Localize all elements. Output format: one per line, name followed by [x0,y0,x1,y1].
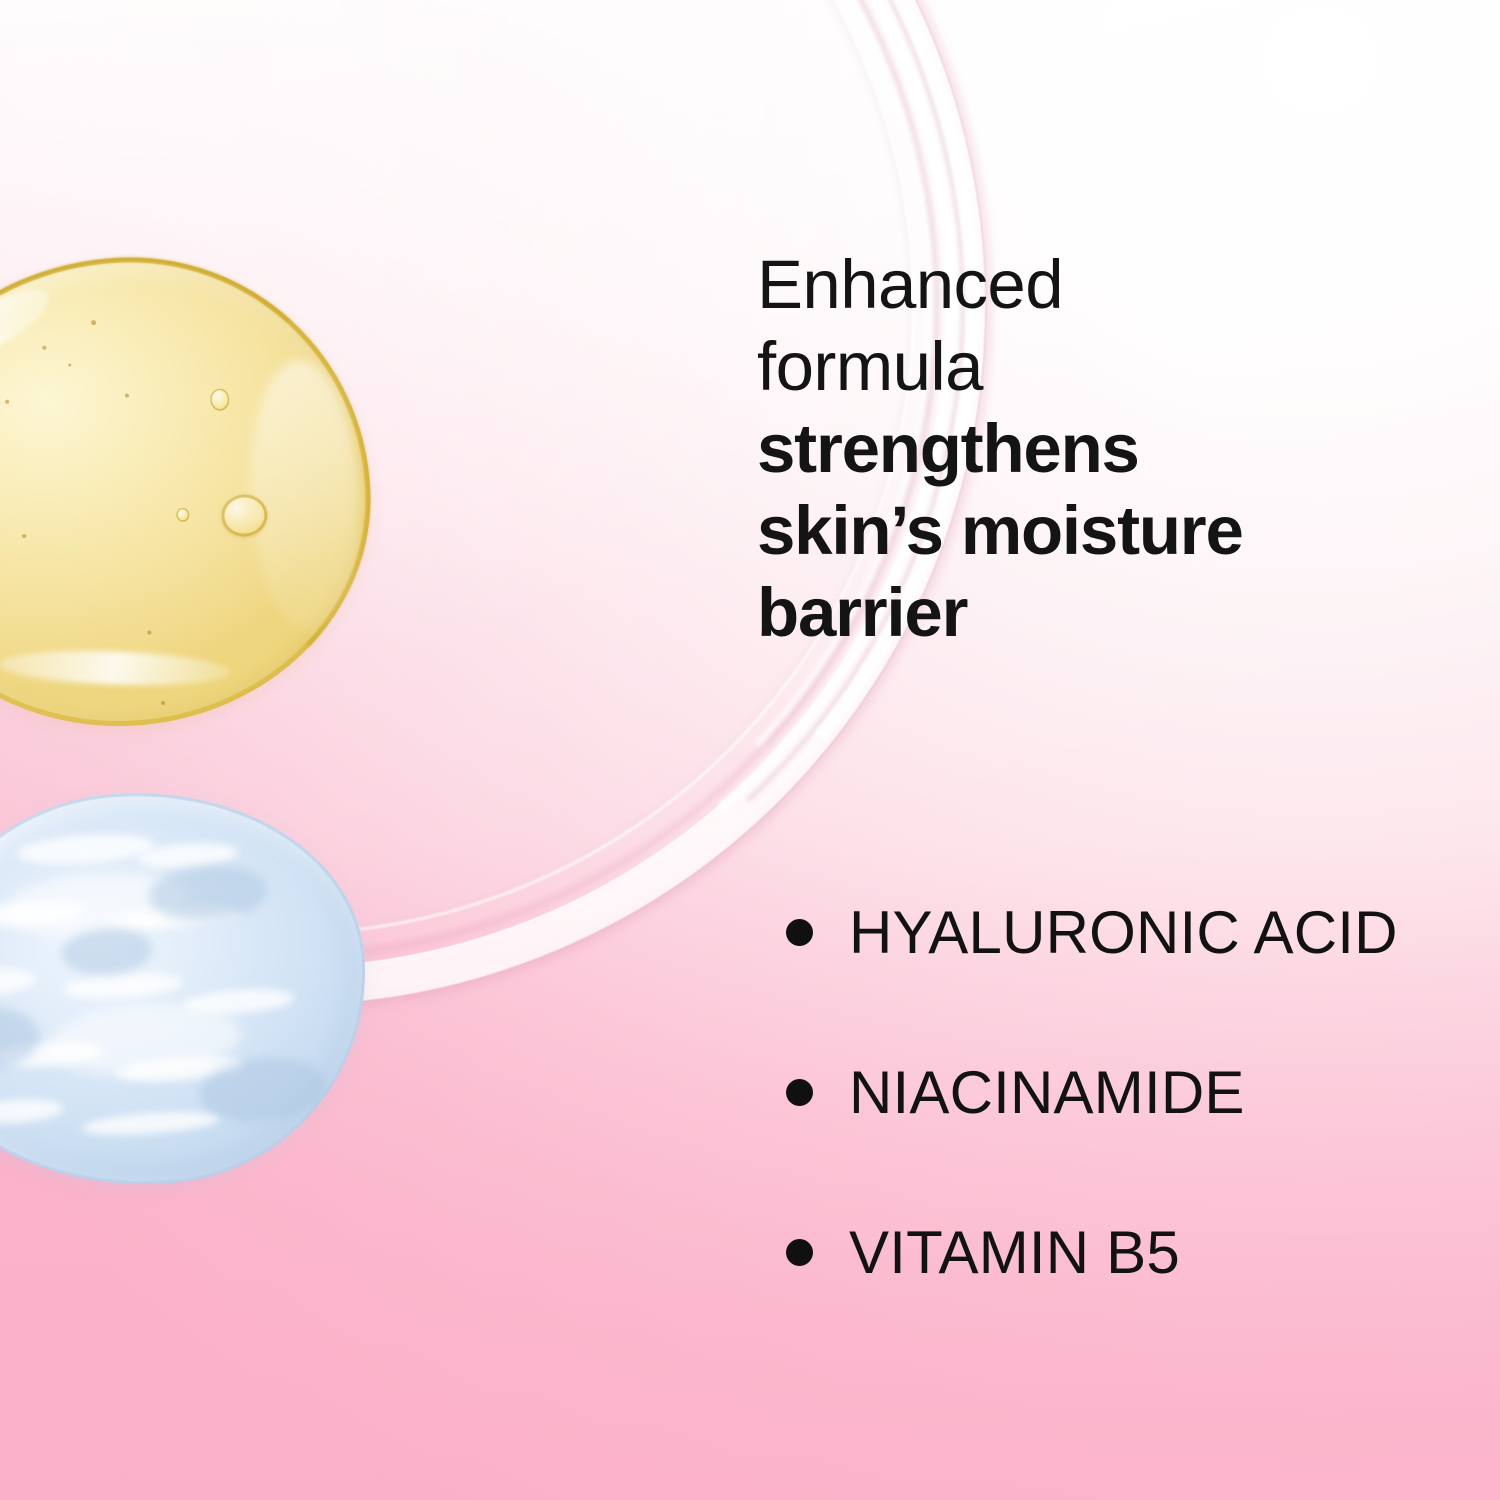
ingredient-label: HYALURONIC ACID [849,898,1398,968]
oil-speck [91,320,96,325]
oil-bubble-medium-2 [176,507,190,522]
ingredient-label: NIACINAMIDE [849,1058,1245,1128]
headline: Enhanced formula strengthens skin’s mois… [757,244,1397,654]
headline-line-4: skin’s moisture [757,490,1397,572]
oil-speck [161,701,165,705]
bullet-dot-icon [786,1079,813,1106]
product-benefit-graphic: Enhanced formula strengthens skin’s mois… [0,0,1500,1500]
ingredient-list: HYALURONIC ACID NIACINAMIDE VITAMIN B5 [757,898,1417,1378]
list-item: HYALURONIC ACID [757,898,1417,1058]
ingredient-label: VITAMIN B5 [849,1218,1180,1288]
headline-line-2: formula [757,326,1397,408]
list-item: VITAMIN B5 [757,1218,1417,1378]
oil-speck [5,399,9,403]
headline-line-1: Enhanced [757,244,1397,326]
bullet-dot-icon [786,919,813,946]
headline-line-5: barrier [757,572,1397,654]
copy-column: Enhanced formula strengthens skin’s mois… [757,0,1417,1500]
bullet-dot-icon [786,1239,813,1266]
oil-speck [68,363,71,366]
list-item: NIACINAMIDE [757,1058,1417,1218]
oil-speck [125,393,129,397]
headline-line-3: strengthens [757,408,1397,490]
